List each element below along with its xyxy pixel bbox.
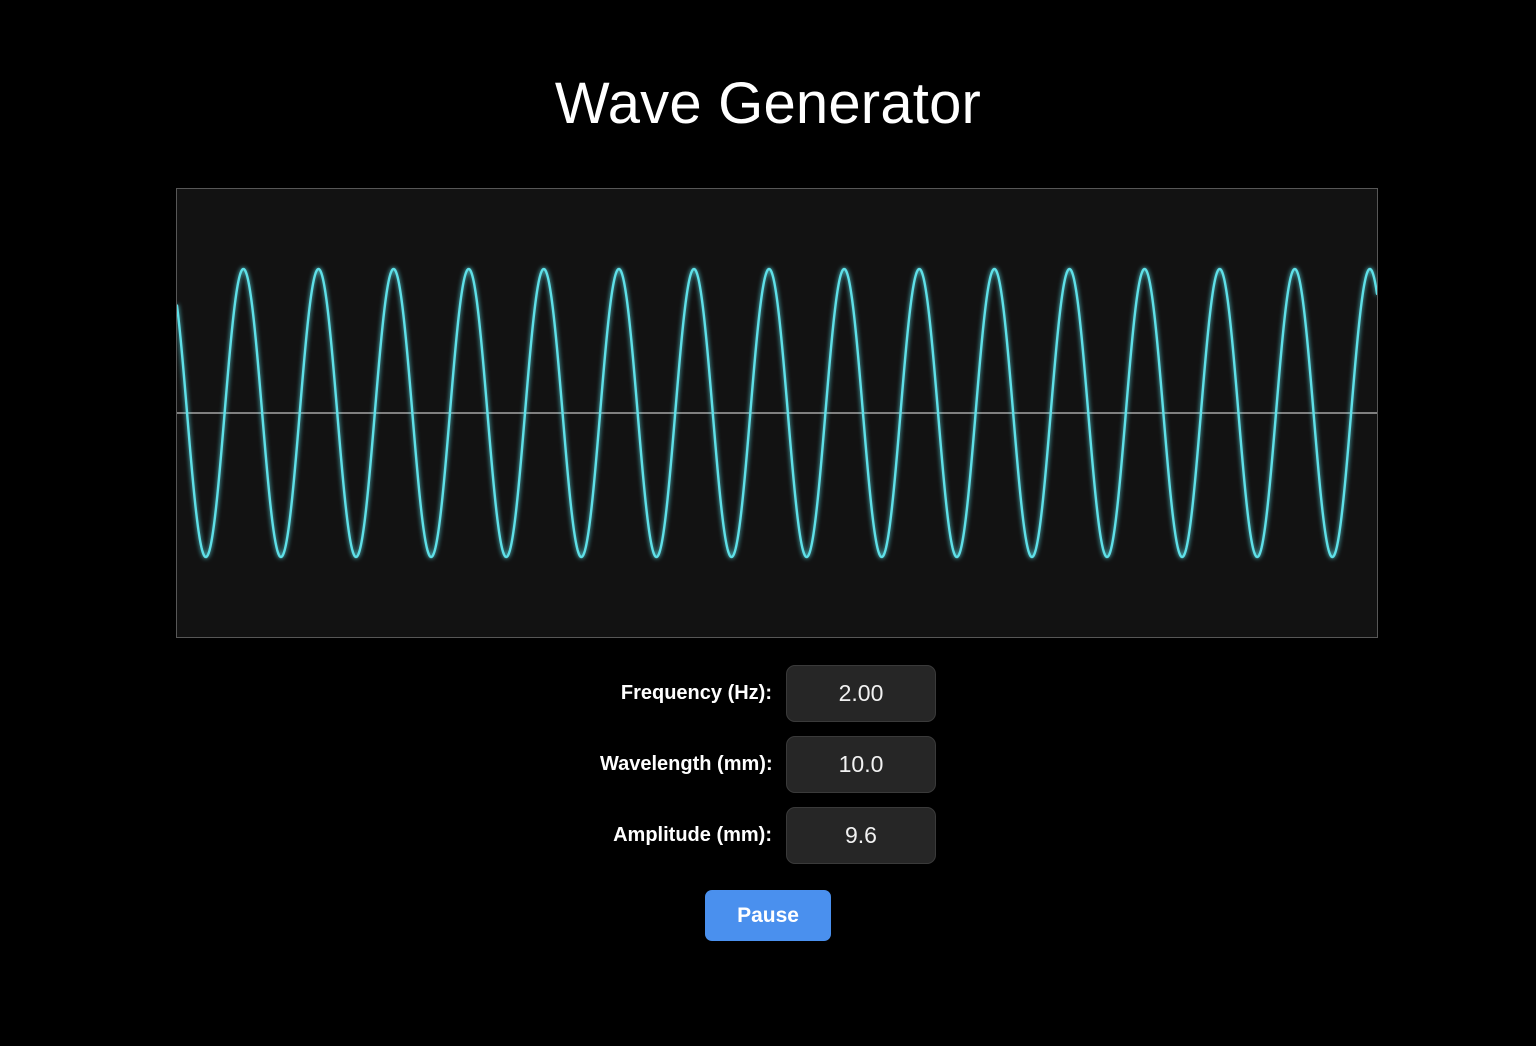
pause-button[interactable]: Pause bbox=[705, 890, 831, 941]
control-row-frequency: Frequency (Hz): 2.00 bbox=[0, 665, 1536, 722]
controls-panel: Frequency (Hz): 2.00 Wavelength (mm): 10… bbox=[0, 665, 1536, 941]
frequency-label: Frequency (Hz): bbox=[600, 682, 786, 705]
wave-plot bbox=[177, 189, 1377, 637]
wavelength-label: Wavelength (mm): bbox=[600, 753, 786, 776]
amplitude-input[interactable]: 9.6 bbox=[786, 807, 936, 864]
frequency-input[interactable]: 2.00 bbox=[786, 665, 936, 722]
control-row-amplitude: Amplitude (mm): 9.6 bbox=[0, 807, 1536, 864]
wavelength-input[interactable]: 10.0 bbox=[786, 736, 936, 793]
control-row-wavelength: Wavelength (mm): 10.0 bbox=[0, 736, 1536, 793]
wave-canvas bbox=[176, 188, 1378, 638]
action-row: Pause bbox=[0, 890, 1536, 941]
amplitude-label: Amplitude (mm): bbox=[600, 824, 786, 847]
wave-generator-app: Wave Generator Frequency (Hz): 2.00 Wav bbox=[0, 0, 1536, 1046]
page-title: Wave Generator bbox=[0, 75, 1536, 133]
